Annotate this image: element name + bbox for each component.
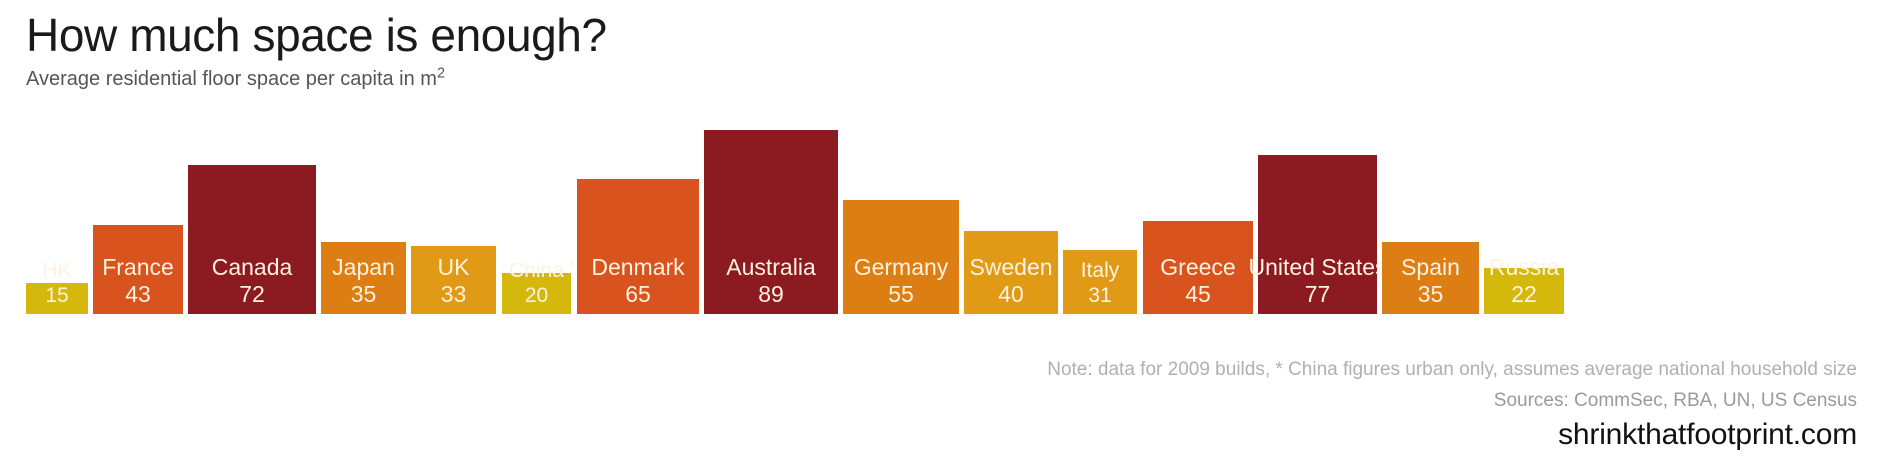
bar-greece[interactable]: Greece45 [1143,221,1253,314]
bar-australia[interactable]: Australia89 [704,130,838,314]
bar-value: 65 [625,281,651,308]
bar-label: Germany [854,254,949,281]
bar-label: Russia [1489,254,1559,281]
bar-value: 33 [441,281,467,308]
bar-value: 15 [45,283,68,308]
bar-france[interactable]: France43 [93,225,183,314]
bar-uk[interactable]: UK33 [411,246,496,314]
bar-value: 22 [1511,281,1537,308]
bar-italy[interactable]: Italy31 [1063,250,1137,314]
bar-label: Greece [1160,254,1235,281]
bar-spain[interactable]: Spain35 [1382,242,1479,314]
bar-china[interactable]: China*20 [502,273,571,314]
bar-label: UK [438,254,470,281]
bar-value: 89 [758,281,784,308]
bar-value: 40 [998,281,1024,308]
bar-value: 43 [125,281,151,308]
infographic-root: How much space is enough? Average reside… [0,0,1879,459]
chart-note: Note: data for 2009 builds, * China figu… [1047,357,1857,382]
bar-russia[interactable]: Russia22 [1484,268,1564,314]
bar-label: United States [1248,254,1386,281]
bar-united-states[interactable]: United States77 [1258,155,1377,314]
bar-value: 45 [1185,281,1211,308]
bar-japan[interactable]: Japan35 [321,242,406,314]
bar-value: 72 [239,281,265,308]
bar-label: France [102,254,174,281]
bar-hk[interactable]: HK15 [26,283,88,314]
bar-denmark[interactable]: Denmark65 [577,179,699,314]
bar-label: Spain [1401,254,1460,281]
bar-value: 55 [888,281,914,308]
bar-label: Canada [212,254,293,281]
bar-value: 35 [1418,281,1444,308]
chart-footer: Note: data for 2009 builds, * China figu… [1047,357,1857,453]
bar-germany[interactable]: Germany55 [843,200,959,314]
bar-label: Japan [332,254,395,281]
bar-label: HK [42,258,71,283]
bar-label: Italy [1081,258,1120,283]
bar-value: 35 [351,281,377,308]
bar-sweden[interactable]: Sweden40 [964,231,1058,314]
chart-sources: Sources: CommSec, RBA, UN, US Census [1047,388,1857,413]
bar-canada[interactable]: Canada72 [188,165,316,314]
bar-value: 20 [525,283,548,308]
bar-label: China* [509,258,564,283]
bar-value: 77 [1305,281,1331,308]
bar-label: Australia [726,254,815,281]
brand-watermark: shrinkthatfootprint.com [1047,417,1857,453]
bar-label: Denmark [591,254,684,281]
bar-label: Sweden [969,254,1052,281]
bar-value: 31 [1088,283,1111,308]
